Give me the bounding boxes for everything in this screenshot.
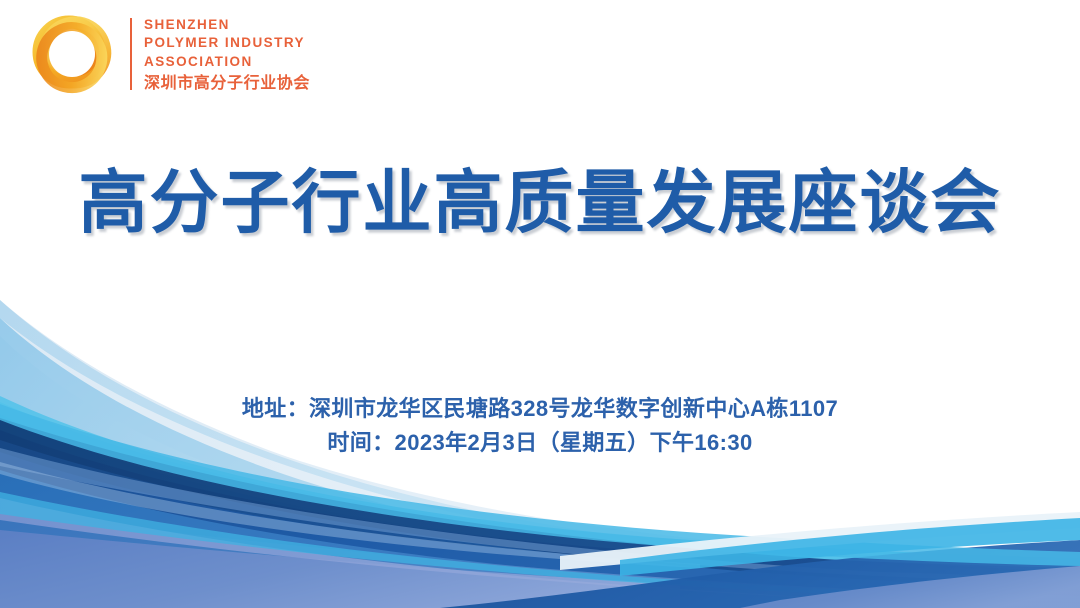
association-logo-lockup: SHENZHEN POLYMER INDUSTRY ASSOCIATION 深圳… [26, 8, 310, 100]
association-name-block: SHENZHEN POLYMER INDUSTRY ASSOCIATION 深圳… [144, 14, 310, 95]
logo-divider [130, 18, 132, 90]
page-title: 高分子行业高质量发展座谈会 [0, 160, 1080, 246]
event-address: 地址：深圳市龙华区民塘路328号龙华数字创新中心A栋1107 [0, 392, 1080, 426]
brand-line-polymer-industry: POLYMER INDUSTRY [144, 34, 310, 52]
brand-line-association: ASSOCIATION [144, 53, 310, 71]
event-time: 时间：2023年2月3日（星期五）下午16:30 [0, 426, 1080, 460]
brand-line-shenzhen: SHENZHEN [144, 16, 310, 34]
interlocking-ring-logo-icon [26, 8, 118, 100]
event-details: 地址：深圳市龙华区民塘路328号龙华数字创新中心A栋1107 时间：2023年2… [0, 392, 1080, 460]
brand-line-chinese: 深圳市高分子行业协会 [144, 73, 310, 94]
presentation-slide: SHENZHEN POLYMER INDUSTRY ASSOCIATION 深圳… [0, 0, 1080, 608]
logo-ring-svg [26, 8, 118, 100]
